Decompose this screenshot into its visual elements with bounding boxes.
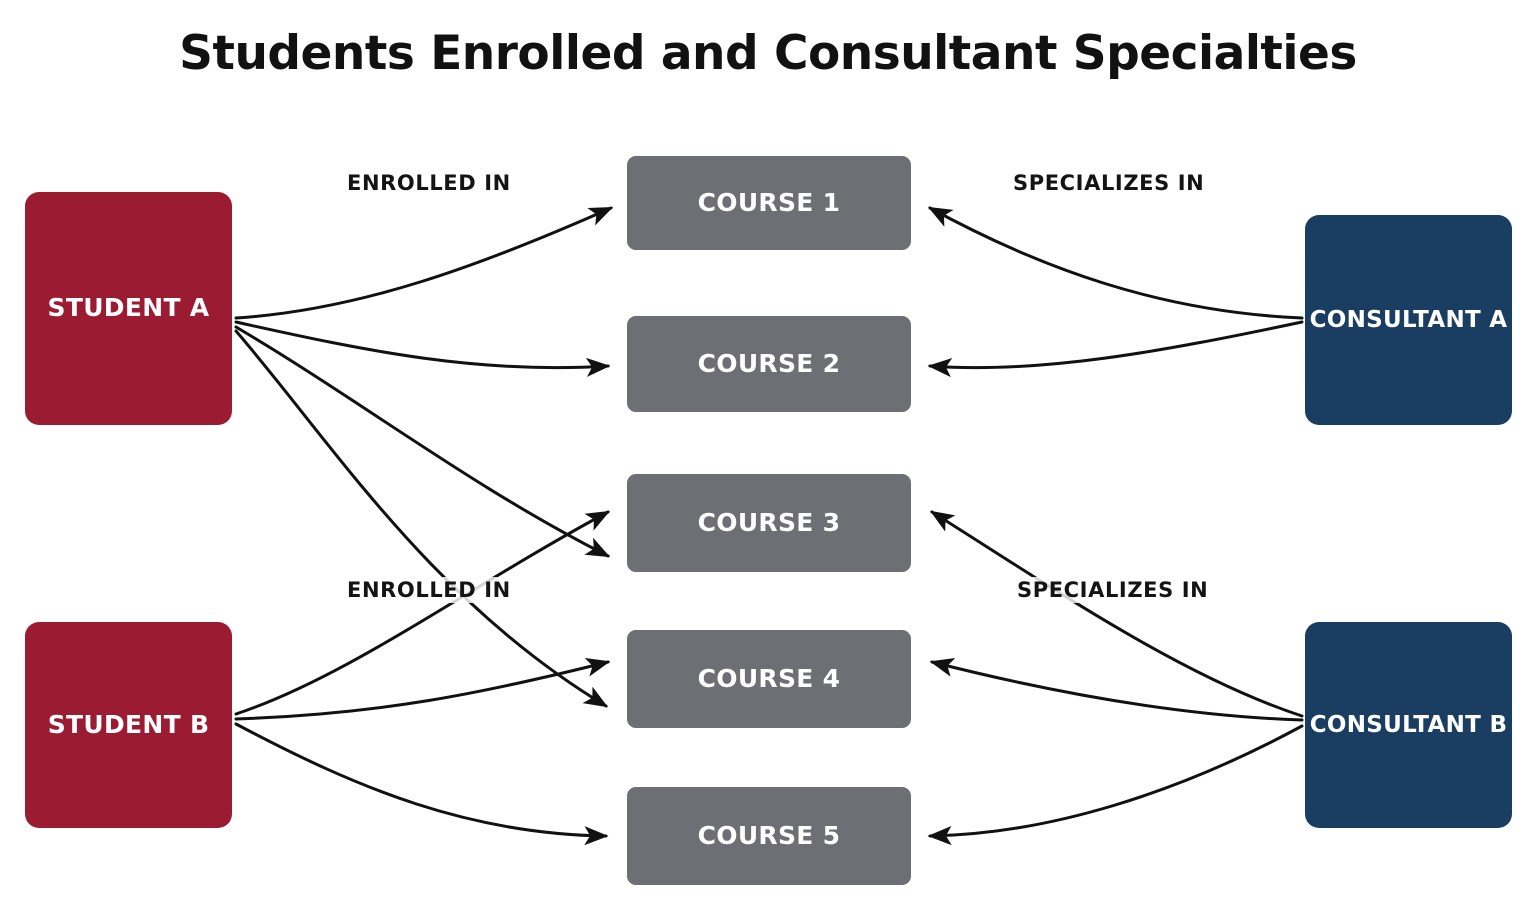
edge-consultant-b-course-4 — [932, 662, 1302, 720]
node-course-4[interactable]: COURSE 4 — [627, 630, 911, 728]
node-student-b[interactable]: STUDENT B — [25, 622, 232, 828]
edge-consultant-a-course-2 — [930, 322, 1302, 368]
node-label: CONSULTANT A — [1310, 307, 1508, 333]
node-label: STUDENT B — [48, 711, 210, 740]
edge-consultant-b-course-5 — [930, 726, 1302, 836]
edge-label-specializes-in-top: SPECIALIZES IN — [1010, 170, 1207, 196]
edge-consultant-b-course-3 — [932, 512, 1302, 716]
node-label: CONSULTANT B — [1310, 712, 1508, 738]
node-label: COURSE 4 — [698, 665, 841, 694]
edge-student-a-course-4 — [236, 331, 606, 706]
node-course-2[interactable]: COURSE 2 — [627, 316, 911, 412]
diagram-canvas: Students Enrolled and Consultant Special… — [0, 0, 1536, 918]
node-consultant-b[interactable]: CONSULTANT B — [1305, 622, 1512, 828]
node-label: COURSE 5 — [698, 822, 841, 851]
edge-label-enrolled-in-bottom: ENROLLED IN — [344, 577, 514, 603]
node-label: STUDENT A — [48, 294, 210, 323]
edge-student-a-course-3 — [236, 327, 608, 556]
page-title: Students Enrolled and Consultant Special… — [0, 26, 1536, 81]
node-label: COURSE 3 — [698, 509, 841, 538]
node-label: COURSE 1 — [698, 189, 841, 218]
node-label: COURSE 2 — [698, 350, 841, 379]
edge-student-a-course-2 — [236, 322, 608, 368]
edge-student-a-course-1 — [236, 208, 611, 318]
edge-consultant-a-course-1 — [930, 208, 1302, 318]
node-course-5[interactable]: COURSE 5 — [627, 787, 911, 885]
edge-student-b-course-3 — [236, 512, 608, 714]
node-course-1[interactable]: COURSE 1 — [627, 156, 911, 250]
node-course-3[interactable]: COURSE 3 — [627, 474, 911, 572]
edge-label-specializes-in-bottom: SPECIALIZES IN — [1014, 577, 1211, 603]
edge-student-b-course-5 — [236, 724, 606, 836]
edge-student-b-course-4 — [236, 662, 608, 719]
edge-label-enrolled-in-top: ENROLLED IN — [344, 170, 514, 196]
node-student-a[interactable]: STUDENT A — [25, 192, 232, 425]
node-consultant-a[interactable]: CONSULTANT A — [1305, 215, 1512, 425]
